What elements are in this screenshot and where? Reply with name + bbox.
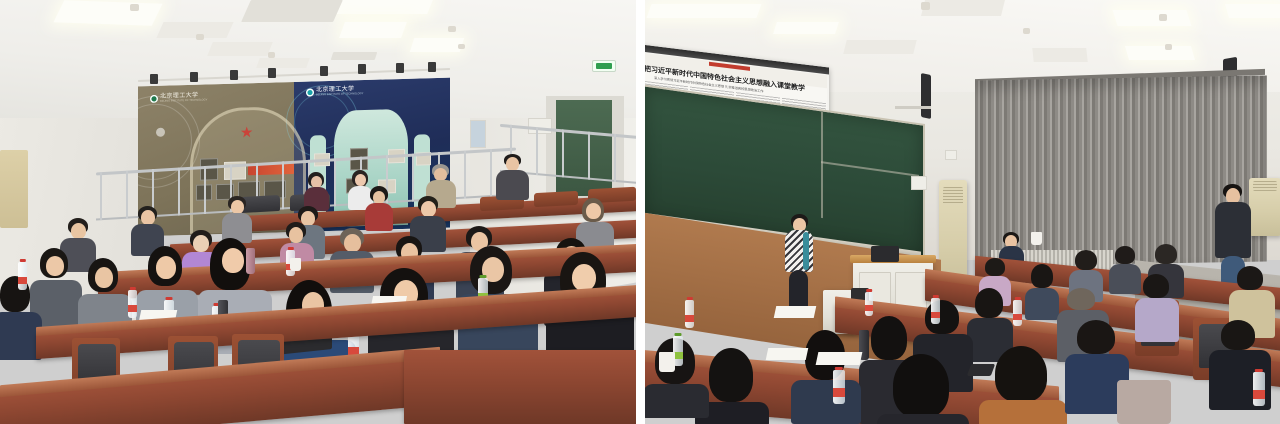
railing-post	[614, 134, 616, 182]
paper-cup	[659, 352, 675, 372]
bottle-label	[1253, 390, 1265, 399]
exit-sign-glyph	[596, 63, 611, 69]
bottle-label	[931, 312, 940, 319]
ceiling-light	[773, 22, 839, 34]
track-spotlight	[230, 70, 238, 80]
railing-post	[464, 150, 466, 198]
railing-post	[100, 172, 102, 220]
mobile-phone	[967, 364, 995, 376]
hair	[709, 348, 753, 402]
wall-switch-panel	[911, 176, 927, 190]
ceiling-speaker	[1023, 28, 1030, 34]
track-spotlight	[358, 64, 366, 74]
bottle-label	[128, 305, 137, 312]
wall-cabinet	[0, 150, 28, 228]
torso	[1135, 298, 1179, 342]
head	[421, 201, 436, 217]
water-bottle	[865, 292, 873, 316]
handbag	[1117, 380, 1171, 424]
head	[572, 264, 596, 291]
lectern-monitor	[871, 246, 899, 262]
bottle-cap	[1014, 297, 1020, 300]
torso	[979, 400, 1067, 424]
thermos-flask	[246, 248, 255, 274]
water-bottle	[128, 290, 137, 318]
hair	[1143, 274, 1169, 298]
hair	[985, 258, 1005, 276]
head	[231, 200, 244, 214]
water-bottle	[1013, 300, 1022, 326]
projector-mount	[895, 106, 931, 109]
head	[506, 157, 519, 171]
paper-cup	[290, 258, 301, 271]
hair	[1031, 264, 1053, 288]
torso	[877, 414, 969, 424]
bottle-label	[685, 315, 694, 322]
ceiling-speaker	[448, 26, 456, 32]
hair	[1077, 320, 1115, 354]
photo-pair-canvas: ★ 北京理工大学 BEIJING INSTITUTE OF TECH	[0, 0, 1280, 424]
wall-outlet	[945, 150, 957, 160]
hair	[995, 346, 1047, 402]
ceiling-speaker	[268, 52, 275, 58]
railing-post	[204, 166, 206, 214]
ceiling-panel	[921, 0, 1005, 16]
water-bottle	[18, 262, 27, 290]
head	[344, 234, 361, 252]
ceiling-light	[1112, 10, 1191, 26]
mural-red-star: ★	[240, 125, 253, 140]
bottle-label	[1013, 314, 1022, 321]
railing-post	[126, 171, 128, 219]
head	[141, 210, 155, 225]
ceiling-panel	[1032, 48, 1087, 62]
hair	[1067, 288, 1095, 310]
bit-logo-teal: 北京理工大学 BEIJING INSTITUTE OF TECHNOLOGY	[306, 86, 363, 97]
head	[95, 267, 113, 288]
water-bottle	[1253, 372, 1265, 406]
seat-back	[240, 195, 280, 213]
track-spotlight	[428, 62, 436, 72]
railing-post	[536, 127, 538, 175]
wall-picture	[470, 120, 486, 148]
handout	[774, 306, 817, 318]
scarf	[803, 232, 809, 270]
bit-emblem-icon	[306, 88, 314, 96]
head	[193, 235, 209, 252]
bottle-cap	[686, 297, 692, 300]
head	[586, 203, 601, 219]
hair	[1075, 250, 1097, 270]
head	[156, 256, 176, 279]
head	[46, 256, 64, 276]
ceiling-light	[335, 0, 433, 14]
railing-post	[588, 132, 590, 180]
classroom-presentation-photo: 把习近平新时代中国特色社会主义思想融入课堂教学 深入学习贯彻习近平新时代中国特色…	[645, 0, 1280, 424]
water-bottle	[931, 298, 940, 324]
hair	[1237, 266, 1263, 290]
bottle-label	[18, 277, 27, 284]
ceiling-speaker	[196, 34, 204, 40]
chalkboard-divider	[821, 112, 823, 218]
ac-grille	[943, 187, 963, 205]
chair	[534, 191, 578, 207]
torso	[496, 170, 529, 200]
railing-post	[282, 161, 284, 209]
hair	[1155, 244, 1177, 264]
exit-sign	[592, 60, 616, 72]
torso	[1215, 202, 1251, 258]
railing-post	[178, 167, 180, 215]
ceiling-light	[1225, 4, 1280, 18]
ac-grille	[1253, 181, 1276, 190]
ceiling-light	[1125, 46, 1195, 60]
torso	[791, 380, 861, 424]
water-bottle	[685, 300, 694, 328]
hair	[1221, 320, 1255, 350]
hair	[1115, 246, 1135, 264]
ceiling-speaker	[1159, 14, 1167, 21]
head	[222, 248, 244, 273]
wall-speaker	[921, 73, 931, 119]
ceiling-panel	[207, 42, 273, 56]
bottle-cap	[932, 295, 938, 298]
paper-cup	[1031, 232, 1042, 245]
torso	[1025, 288, 1059, 320]
bottle-cap	[1255, 369, 1263, 372]
track-spotlight	[396, 63, 404, 73]
torso	[645, 384, 709, 418]
ceiling-speaker	[458, 44, 465, 49]
bottle-cap	[675, 333, 682, 336]
ceiling-light	[339, 22, 407, 38]
handout	[816, 352, 863, 365]
track-spotlight	[150, 74, 158, 84]
bit-logo-green: 北京理工大学 BEIJING INSTITUTE OF TECHNOLOGY	[150, 92, 207, 103]
track-spotlight	[320, 66, 328, 76]
air-conditioner-right	[1249, 178, 1280, 236]
water-bottle	[833, 370, 845, 404]
bottle-cap	[480, 275, 487, 278]
track-spotlight	[190, 72, 198, 82]
ceiling-vent	[241, 0, 343, 22]
head	[71, 223, 86, 239]
ceiling-speaker	[130, 4, 139, 11]
railing-post	[490, 149, 492, 197]
bottle-cap	[129, 287, 135, 290]
hair	[975, 288, 1003, 318]
bottle-label	[833, 388, 845, 397]
desk-row-front	[404, 350, 636, 424]
ceiling-panel	[156, 22, 233, 38]
bottle-cap	[835, 367, 843, 370]
ceiling-light	[410, 38, 465, 52]
torso	[1109, 264, 1141, 294]
bit-emblem-icon	[150, 94, 158, 102]
ceiling-light	[53, 0, 162, 25]
bottle-cap	[166, 297, 173, 300]
hair	[871, 316, 907, 360]
ceiling-speaker	[1165, 44, 1172, 50]
ceiling-panel	[256, 58, 310, 68]
hair	[893, 354, 949, 418]
ceiling-light	[646, 4, 761, 18]
railing-post	[412, 154, 414, 202]
torso	[365, 203, 393, 231]
railing-post	[562, 129, 564, 177]
bottle-label	[865, 305, 873, 311]
bottle-cap	[19, 259, 25, 262]
head	[355, 174, 366, 186]
ceiling-speaker	[921, 2, 930, 10]
lecture-hall-audience-photo: ★ 北京理工大学 BEIJING INSTITUTE OF TECH	[0, 0, 636, 424]
ceiling-panel	[843, 40, 916, 54]
ceiling-vent	[331, 52, 378, 60]
handout	[766, 348, 809, 360]
railing-post	[334, 158, 336, 206]
track-spotlight	[268, 68, 276, 78]
bottle-cap	[866, 289, 872, 292]
bottle-cap	[287, 247, 293, 250]
head	[289, 227, 303, 243]
